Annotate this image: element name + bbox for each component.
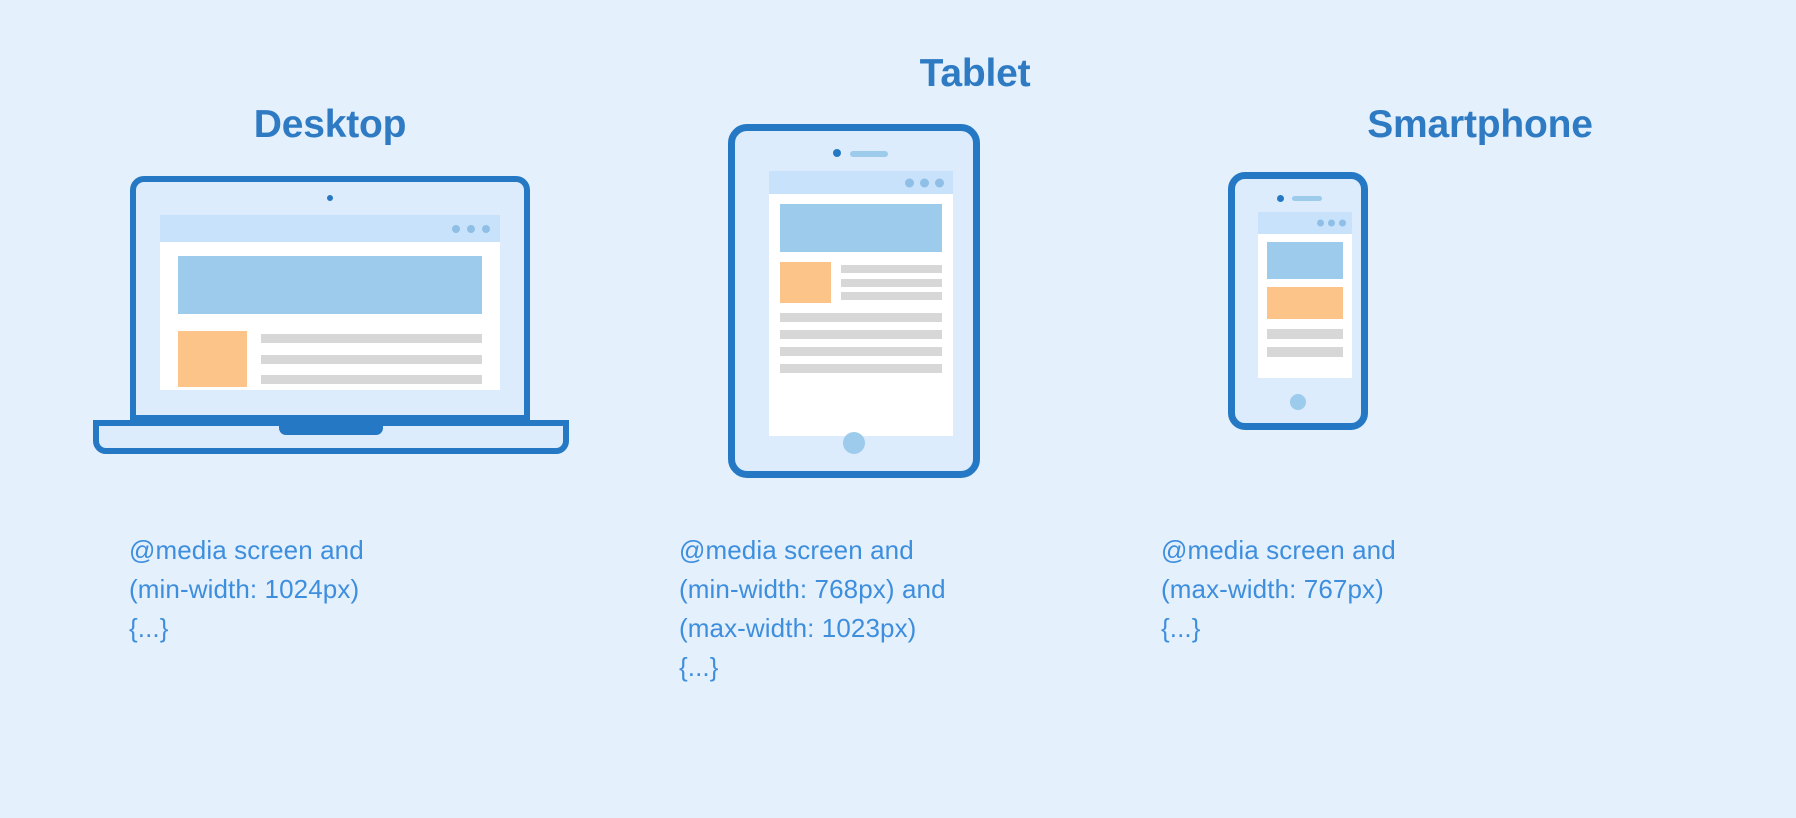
text-line bbox=[780, 313, 942, 322]
browser-titlebar bbox=[160, 215, 500, 242]
device-heading-smartphone: Smartphone bbox=[1265, 103, 1695, 147]
text-line bbox=[841, 292, 942, 300]
window-dot-icon bbox=[452, 225, 460, 233]
text-line bbox=[1267, 347, 1343, 357]
phone-body bbox=[1228, 172, 1368, 430]
home-button-icon bbox=[1290, 394, 1306, 410]
paragraph-lines-group bbox=[1267, 329, 1343, 357]
text-line bbox=[841, 279, 942, 287]
tablet-illustration bbox=[728, 124, 980, 478]
smartphone-illustration bbox=[1228, 172, 1368, 430]
page-content bbox=[1258, 234, 1352, 378]
window-dot-icon bbox=[467, 225, 475, 233]
laptop-base bbox=[93, 420, 569, 454]
text-lines-group bbox=[261, 331, 482, 387]
thumbnail-block bbox=[1267, 287, 1343, 319]
text-line bbox=[780, 330, 942, 339]
window-dot-icon bbox=[1317, 220, 1324, 227]
browser-titlebar bbox=[769, 171, 953, 194]
thumbnail-block bbox=[178, 331, 247, 387]
window-dot-icon bbox=[1339, 220, 1346, 227]
text-lines-group bbox=[841, 262, 942, 303]
text-line bbox=[841, 265, 942, 273]
browser-titlebar bbox=[1258, 212, 1352, 234]
front-camera-icon bbox=[1277, 195, 1284, 202]
responsive-breakpoints-illustration: Desktop Tablet Smartphone bbox=[0, 0, 1796, 818]
hero-block bbox=[1267, 242, 1343, 279]
hero-block bbox=[178, 256, 482, 314]
earpiece-speaker-icon bbox=[850, 151, 888, 157]
window-dot-icon bbox=[482, 225, 490, 233]
front-camera-icon bbox=[833, 149, 841, 157]
text-line bbox=[780, 347, 942, 356]
text-line bbox=[261, 355, 482, 364]
desktop-laptop-illustration bbox=[93, 176, 569, 454]
laptop-screen-wireframe bbox=[160, 215, 500, 390]
hero-block bbox=[780, 204, 942, 252]
device-heading-tablet: Tablet bbox=[760, 52, 1190, 96]
laptop-lid bbox=[130, 176, 530, 421]
window-dot-icon bbox=[935, 178, 944, 187]
paragraph-lines-group bbox=[780, 313, 942, 373]
home-button-icon bbox=[843, 432, 865, 454]
media-query-caption-smartphone: @media screen and (max-width: 767px) {..… bbox=[1161, 531, 1581, 648]
window-dot-icon bbox=[920, 178, 929, 187]
text-line bbox=[261, 375, 482, 384]
phone-screen-wireframe bbox=[1258, 212, 1352, 378]
laptop-trackpad-notch bbox=[279, 425, 383, 435]
tablet-body bbox=[728, 124, 980, 478]
earpiece-speaker-icon bbox=[1292, 196, 1322, 201]
device-heading-desktop: Desktop bbox=[120, 103, 540, 147]
content-row bbox=[780, 262, 942, 303]
content-row bbox=[178, 331, 482, 387]
text-line bbox=[1267, 329, 1343, 339]
webcam-icon bbox=[327, 195, 333, 201]
page-content bbox=[769, 194, 953, 436]
window-dot-icon bbox=[1328, 220, 1335, 227]
media-query-caption-desktop: @media screen and (min-width: 1024px) {.… bbox=[129, 531, 549, 648]
text-line bbox=[780, 364, 942, 373]
window-controls bbox=[905, 178, 944, 187]
media-query-caption-tablet: @media screen and (min-width: 768px) and… bbox=[679, 531, 1099, 687]
page-content bbox=[160, 242, 500, 390]
window-dot-icon bbox=[905, 178, 914, 187]
text-line bbox=[261, 334, 482, 343]
thumbnail-block bbox=[780, 262, 831, 303]
window-controls bbox=[452, 225, 490, 233]
window-controls bbox=[1317, 220, 1346, 227]
tablet-screen-wireframe bbox=[769, 171, 953, 436]
